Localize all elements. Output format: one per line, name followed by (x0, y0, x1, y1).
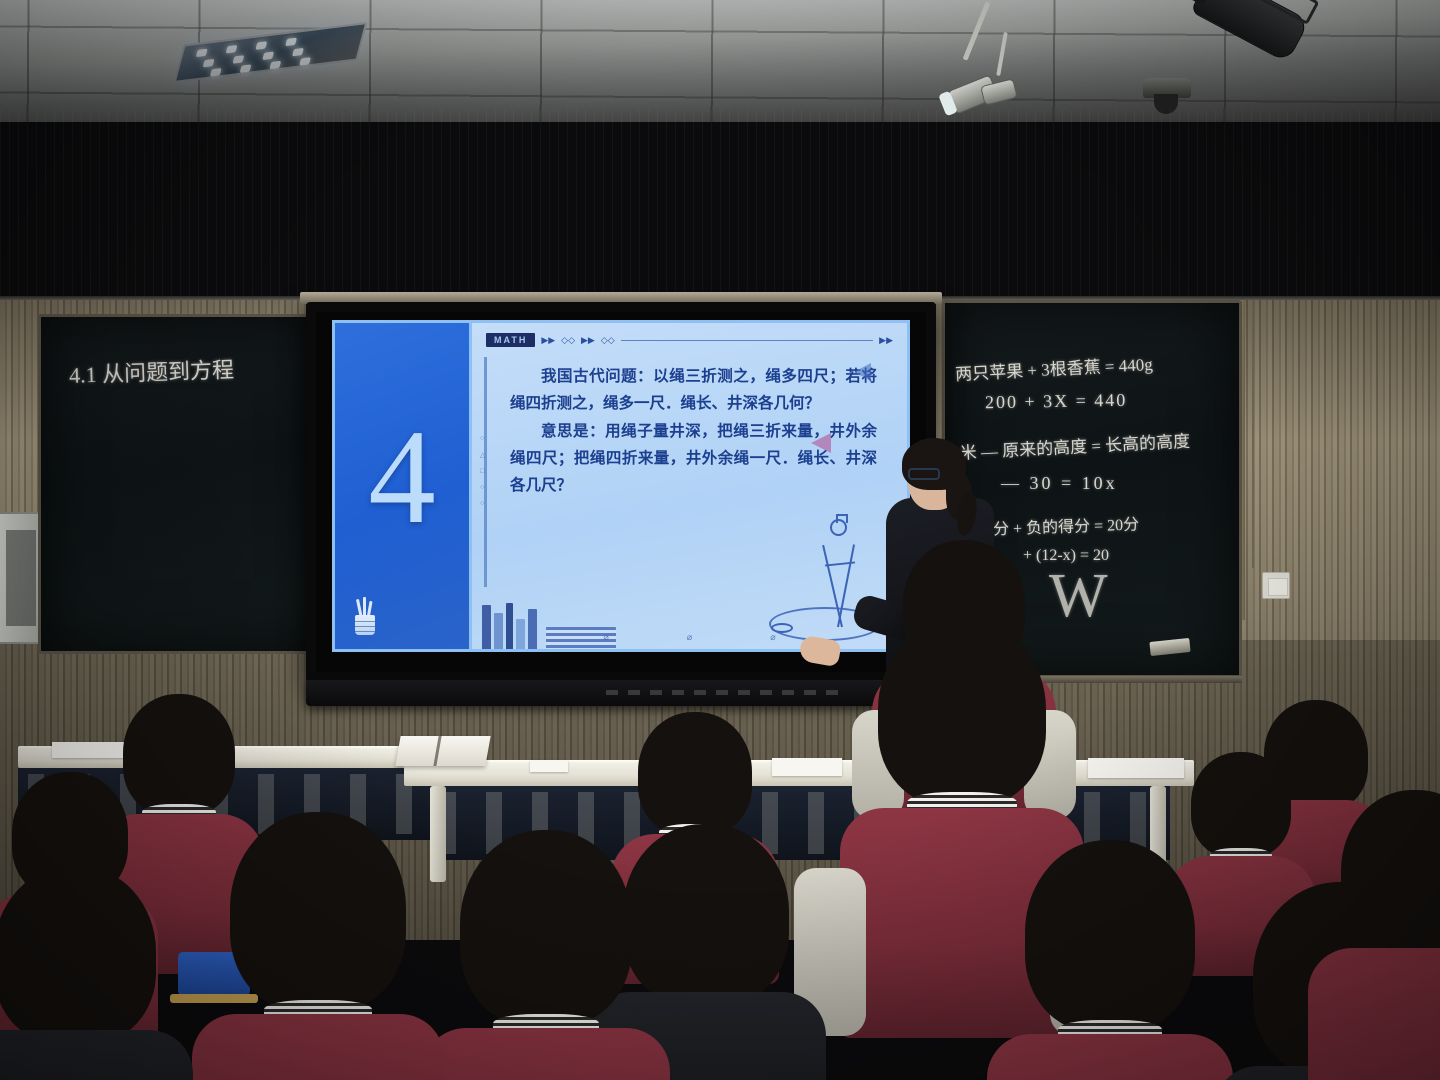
light-switch[interactable] (1262, 572, 1290, 599)
student-head (1025, 840, 1195, 1032)
dome-camera-icon (1143, 78, 1191, 98)
chalk-line: 分 + 负的得分 = 20分 (993, 510, 1140, 539)
wall-cable (1252, 300, 1254, 568)
student-uniform (987, 1034, 1233, 1080)
open-book (395, 736, 490, 766)
student (1340, 790, 1440, 1050)
glasses-icon (908, 468, 940, 480)
wall-cabinet (0, 512, 42, 644)
classroom-scene: 4.1 从问题到方程 两只苹果 + 3根香蕉 = 440g 200 + 3X =… (0, 0, 1440, 1080)
student (458, 830, 634, 1080)
student-head (230, 812, 406, 1012)
chalk-mark: W (1049, 561, 1108, 632)
student (1022, 840, 1198, 1080)
student-uniform (1308, 948, 1440, 1080)
student (120, 694, 238, 894)
chalk-line: 4.1 从问题到方程 (68, 352, 234, 390)
student-head (878, 620, 1046, 806)
student-head (0, 866, 156, 1044)
paper-sheet (772, 758, 842, 776)
display-bezel (306, 302, 936, 682)
upper-wall-dark (0, 110, 1440, 315)
display-bottom-bar[interactable] (306, 680, 936, 706)
student-uniform (0, 1030, 193, 1080)
student-head (123, 694, 235, 816)
student-head (638, 712, 752, 836)
student (0, 866, 160, 1080)
chalk-line: — 30 = 10x (1001, 473, 1118, 494)
student-uniform (422, 1028, 670, 1080)
chalk-line: 两只苹果 + 3根香蕉 = 440g (954, 350, 1153, 385)
student-head (1191, 752, 1291, 858)
student-uniform (192, 1014, 444, 1080)
paper-sheet (530, 760, 568, 772)
student-head (1341, 790, 1440, 958)
paper-sheet (1088, 758, 1184, 778)
left-blackboard: 4.1 从问题到方程 (38, 314, 328, 654)
desk-leg (430, 786, 446, 882)
student-head (460, 830, 632, 1026)
interactive-flat-panel[interactable]: 4 MATH ▶▶ ◇◇ ▶▶ ◇◇ ▶▶ (306, 302, 936, 682)
student (228, 812, 408, 1080)
display-control-buttons[interactable] (606, 690, 846, 695)
student-head (623, 824, 789, 1006)
chalk-line: 200 + 3X = 440 (985, 390, 1128, 413)
